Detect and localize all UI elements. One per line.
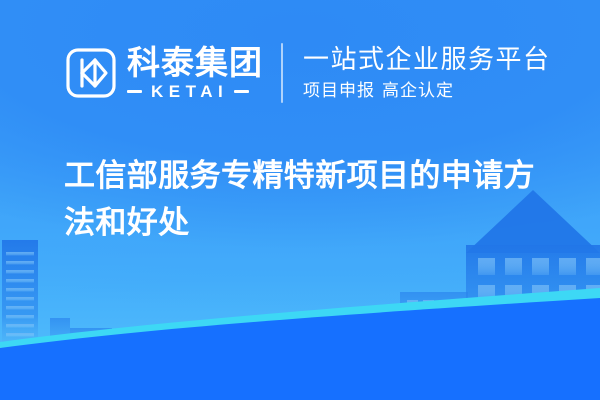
tagline-service-project-declaration: 项目申报 (303, 81, 375, 100)
tagline-primary: 一站式企业服务平台 (303, 44, 551, 75)
tagline-service-hightech-certification: 高企认定 (382, 81, 454, 100)
brand-logo[interactable]: 科泰集团 KETAI (64, 36, 263, 110)
building-left-small (50, 318, 112, 362)
page-title: 工信部服务专精特新项目的申请方法和好处 (64, 152, 560, 246)
brand-name-en-row: KETAI (127, 83, 263, 100)
building-mid-right-block (400, 292, 468, 362)
promo-banner: 科泰集团 KETAI 一站式企业服务平台 项目申报高企认定 工信部服务专精特新项… (0, 0, 600, 400)
header-taglines: 一站式企业服务平台 项目申报高企认定 (303, 44, 551, 101)
banner-header: 科泰集团 KETAI 一站式企业服务平台 项目申报高企认定 (64, 36, 551, 110)
tagline-secondary: 项目申报高企认定 (303, 81, 551, 101)
wave-divider (0, 270, 600, 400)
wordmark-dash-right (234, 90, 249, 93)
header-divider (281, 43, 283, 103)
brand-name-cn: 科泰集团 (127, 46, 263, 80)
ketai-kd-monogram-icon (64, 46, 118, 100)
brand-wordmark: 科泰集团 KETAI (127, 46, 263, 100)
brand-name-en: KETAI (142, 83, 234, 100)
wordmark-dash-left (127, 90, 142, 93)
building-left-tower (2, 240, 38, 362)
